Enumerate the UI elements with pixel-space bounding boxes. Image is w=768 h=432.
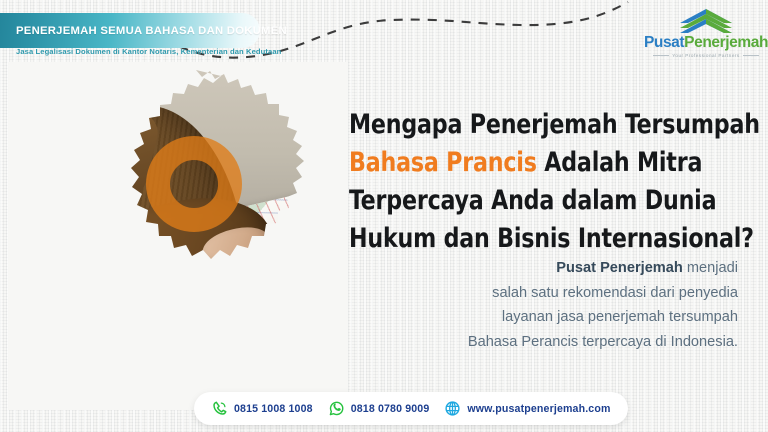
- logo-word-penerjemah: Penerjemah: [684, 34, 768, 51]
- subheadline-line-4: Bahasa Perancis terpercaya di Indonesia.: [352, 330, 738, 355]
- subheadline-line-2: salah satu rekomendasi dari penyedia: [352, 281, 738, 306]
- poster-canvas: PENERJEMAH SEMUA BAHASA DAN DOKUMEN Jasa…: [0, 0, 768, 432]
- ribbon-subtitle: Jasa Legalisasi Dokumen di Kantor Notari…: [16, 47, 281, 56]
- headline-line-1: Mengapa Penerjemah Tersumpah: [349, 106, 721, 144]
- globe-icon: [444, 400, 461, 417]
- contact-phone-value: 0815 1008 1008: [234, 403, 313, 415]
- logo-tagline-row: Your Professional Partners: [653, 53, 758, 58]
- contact-item-whatsapp[interactable]: 0818 0780 9009: [328, 400, 430, 417]
- subheadline-line-1-rest: menjadi: [683, 260, 738, 276]
- headline-line-4: Hukum dan Bisnis Internasional?: [349, 220, 721, 258]
- logo-wordmark: PusatPenerjemah: [644, 35, 768, 51]
- building-roof-icon: [676, 8, 736, 34]
- ribbon-title: PENERJEMAH SEMUA BAHASA DAN DOKUMEN: [16, 25, 287, 37]
- logo-rule-right: [743, 55, 759, 56]
- subheadline-paragraph: Pusat Penerjemah menjadi salah satu reko…: [352, 256, 738, 354]
- header-ribbon: PENERJEMAH SEMUA BAHASA DAN DOKUMEN: [0, 13, 260, 48]
- contact-website-value: www.pusatpenerjemah.com: [467, 403, 610, 415]
- contact-item-phone[interactable]: 0815 1008 1008: [211, 400, 313, 417]
- subheadline-line-1: Pusat Penerjemah menjadi: [352, 256, 738, 281]
- headline-line-3: Terpercaya Anda dalam Dunia: [349, 182, 721, 220]
- orange-ring-decoration: [146, 136, 242, 232]
- whatsapp-icon: [328, 400, 345, 417]
- hero-photo-scene: [8, 62, 348, 410]
- contact-whatsapp-value: 0818 0780 9009: [351, 403, 430, 415]
- hero-photo-frame: [8, 62, 348, 410]
- logo-tagline: Your Professional Partners: [672, 53, 739, 58]
- headline-block: Mengapa Penerjemah Tersumpah Bahasa Pran…: [349, 106, 749, 258]
- brand-logo[interactable]: PusatPenerjemah Your Professional Partne…: [652, 8, 760, 60]
- phone-icon: [211, 400, 228, 417]
- contact-item-website[interactable]: www.pusatpenerjemah.com: [444, 400, 610, 417]
- subheadline-strong: Pusat Penerjemah: [556, 260, 683, 276]
- hero-photo: [8, 62, 348, 410]
- headline-line-2: Bahasa Prancis Adalah Mitra: [349, 144, 721, 182]
- headline-line-2-rest: Adalah Mitra: [537, 147, 703, 178]
- logo-word-pusat: Pusat: [644, 34, 684, 51]
- headline-accent: Bahasa Prancis: [349, 147, 537, 178]
- contact-bar: 0815 1008 1008 0818 0780 9009 www.pusatp…: [194, 392, 628, 425]
- subheadline-line-3: layanan jasa penerjemah tersumpah: [352, 305, 738, 330]
- logo-rule-left: [653, 55, 669, 56]
